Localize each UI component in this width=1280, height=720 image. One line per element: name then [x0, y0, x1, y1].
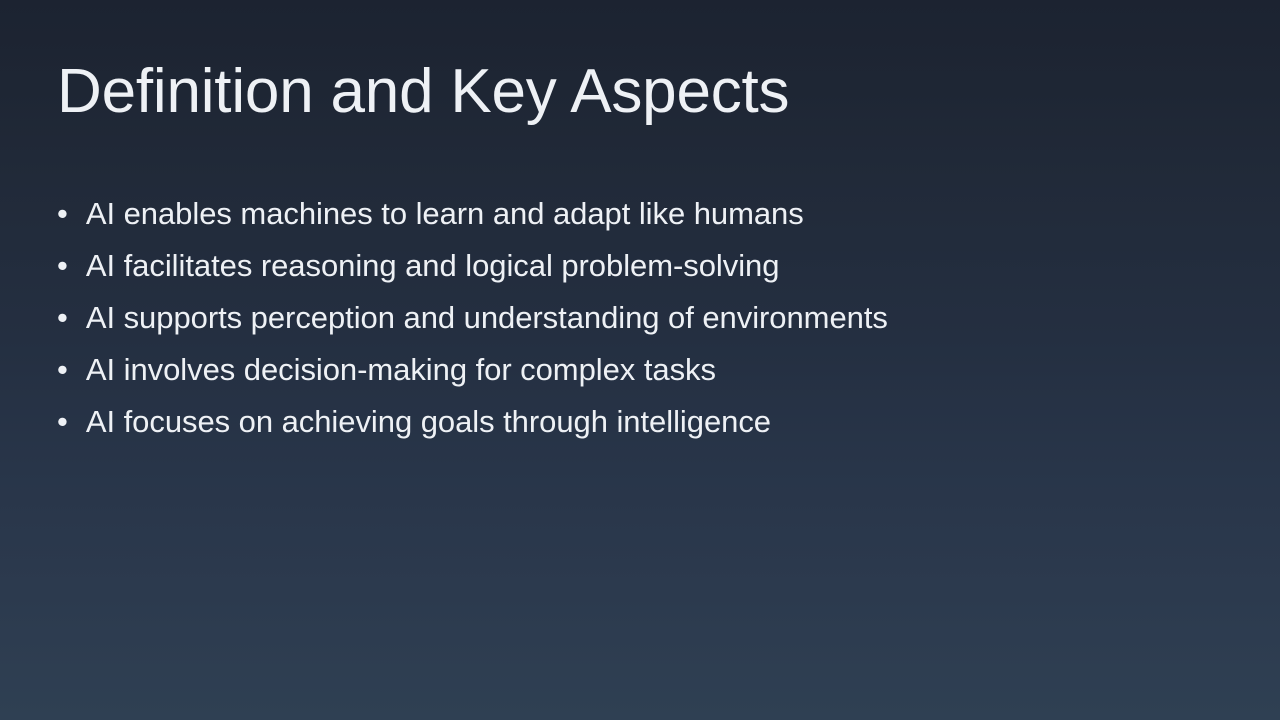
list-item-label: AI involves decision-making for complex … [86, 352, 716, 387]
slide-canvas: Definition and Key Aspects • AI enables … [0, 0, 1280, 720]
list-item-label: AI facilitates reasoning and logical pro… [86, 248, 780, 283]
bullet-dot-icon: • [57, 292, 79, 344]
bullet-dot-icon: • [57, 188, 79, 240]
bullet-dot-icon: • [57, 240, 79, 292]
list-item: • AI enables machines to learn and adapt… [57, 188, 1227, 240]
page-title: Definition and Key Aspects [57, 55, 1217, 129]
list-item-label: AI enables machines to learn and adapt l… [86, 196, 804, 231]
list-item: • AI involves decision-making for comple… [57, 344, 1227, 396]
list-item: • AI focuses on achieving goals through … [57, 396, 1227, 448]
bullet-list: • AI enables machines to learn and adapt… [57, 188, 1227, 448]
list-item: • AI facilitates reasoning and logical p… [57, 240, 1227, 292]
list-item-label: AI supports perception and understanding… [86, 300, 888, 335]
list-item: • AI supports perception and understandi… [57, 292, 1227, 344]
bullet-dot-icon: • [57, 396, 79, 448]
bullet-dot-icon: • [57, 344, 79, 396]
list-item-label: AI focuses on achieving goals through in… [86, 404, 771, 439]
